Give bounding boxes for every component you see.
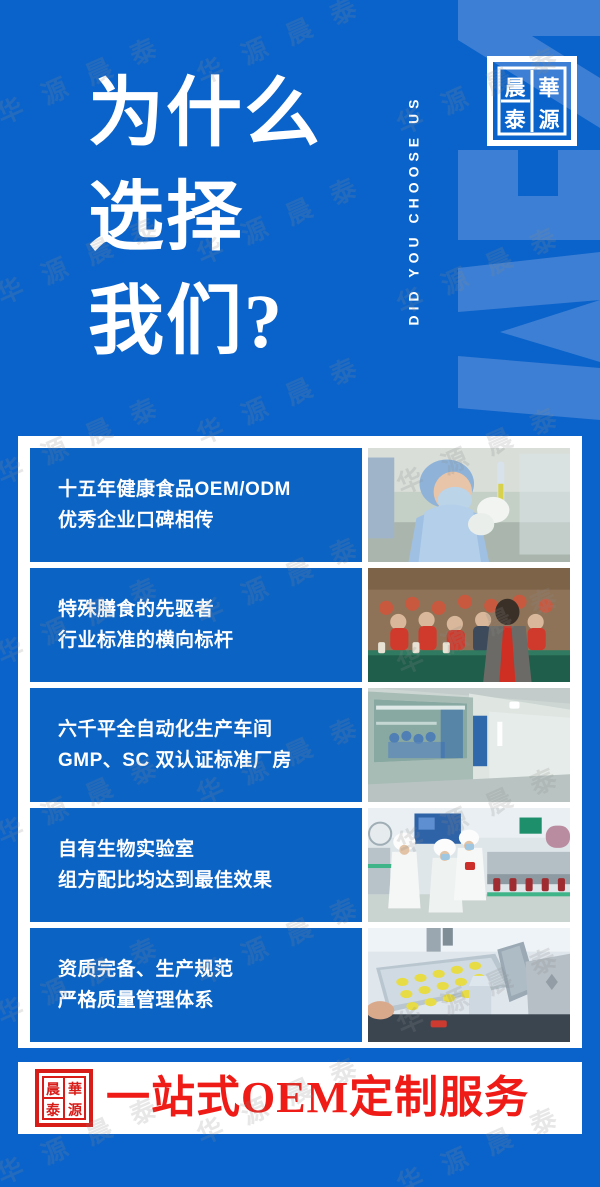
feature-line: 自有生物实验室 xyxy=(58,834,362,865)
cleanroom-corridor-photo xyxy=(368,688,570,802)
svg-text:泰: 泰 xyxy=(45,1102,61,1119)
svg-text:晨: 晨 xyxy=(46,1082,61,1098)
title-line-2: 选择 xyxy=(88,166,388,270)
feature-line: 特殊膳食的先驱者 xyxy=(58,594,362,625)
feature-line: 六千平全自动化生产车间 xyxy=(58,714,362,745)
features-frame: 十五年健康食品OEM/ODM 优秀企业口碑相传 xyxy=(18,436,582,1048)
title-line-1: 为什么 xyxy=(88,62,388,166)
feature-card[interactable]: 自有生物实验室 组方配比均达到最佳效果 xyxy=(30,808,362,922)
production-line-staff-photo xyxy=(368,808,570,922)
feature-row: 资质完备、生产规范 严格质量管理体系 xyxy=(30,928,570,1042)
feature-card[interactable]: 特殊膳食的先驱者 行业标准的横向标杆 xyxy=(30,568,362,682)
svg-text:源: 源 xyxy=(68,1102,82,1119)
feature-line: 组方配比均达到最佳效果 xyxy=(58,865,362,896)
feature-line: 十五年健康食品OEM/ODM xyxy=(58,474,362,505)
feature-line: 行业标准的横向标杆 xyxy=(58,625,362,656)
huayuan-chentai-seal-red-icon: 晨 華 泰 源 xyxy=(34,1068,94,1128)
page-title: 为什么 选择 我们? xyxy=(88,62,388,374)
bottom-cta-banner[interactable]: 晨 華 泰 源 一站式OEM定制服务 xyxy=(18,1062,582,1134)
feature-line: 优秀企业口碑相传 xyxy=(58,505,362,536)
feature-row: 十五年健康食品OEM/ODM 优秀企业口碑相传 xyxy=(30,448,570,562)
svg-text:華: 華 xyxy=(539,76,560,100)
bottom-banner-text: 一站式OEM定制服务 xyxy=(106,1076,529,1120)
title-line-3: 我们? xyxy=(88,270,388,374)
conference-audience-photo xyxy=(368,568,570,682)
vertical-english-tagline: DID YOU CHOOSE US xyxy=(398,10,428,410)
svg-text:晨: 晨 xyxy=(505,76,527,100)
poster-root: 为什么 选择 我们? DID YOU CHOOSE US 晨 華 泰 源 xyxy=(0,0,600,1187)
lab-technician-photo xyxy=(368,448,570,562)
svg-text:源: 源 xyxy=(539,108,560,132)
huayuan-chentai-seal-white-icon: 晨 華 泰 源 xyxy=(486,55,578,147)
feature-row: 自有生物实验室 组方配比均达到最佳效果 xyxy=(30,808,570,922)
svg-text:泰: 泰 xyxy=(504,108,527,132)
feature-card[interactable]: 十五年健康食品OEM/ODM 优秀企业口碑相传 xyxy=(30,448,362,562)
feature-row: 六千平全自动化生产车间 GMP、SC 双认证标准厂房 xyxy=(30,688,570,802)
vertical-english-text: DID YOU CHOOSE US xyxy=(405,95,421,326)
feature-line: 资质完备、生产规范 xyxy=(58,954,362,985)
feature-card[interactable]: 资质完备、生产规范 严格质量管理体系 xyxy=(30,928,362,1042)
svg-text:華: 華 xyxy=(68,1081,82,1098)
features-list: 十五年健康食品OEM/ODM 优秀企业口碑相传 xyxy=(30,448,570,1036)
feature-card[interactable]: 六千平全自动化生产车间 GMP、SC 双认证标准厂房 xyxy=(30,688,362,802)
feature-line: GMP、SC 双认证标准厂房 xyxy=(58,745,362,776)
poster-header: 为什么 选择 我们? DID YOU CHOOSE US 晨 華 泰 源 xyxy=(0,0,600,430)
blister-packaging-photo xyxy=(368,928,570,1042)
feature-line: 严格质量管理体系 xyxy=(58,985,362,1016)
feature-row: 特殊膳食的先驱者 行业标准的横向标杆 xyxy=(30,568,570,682)
